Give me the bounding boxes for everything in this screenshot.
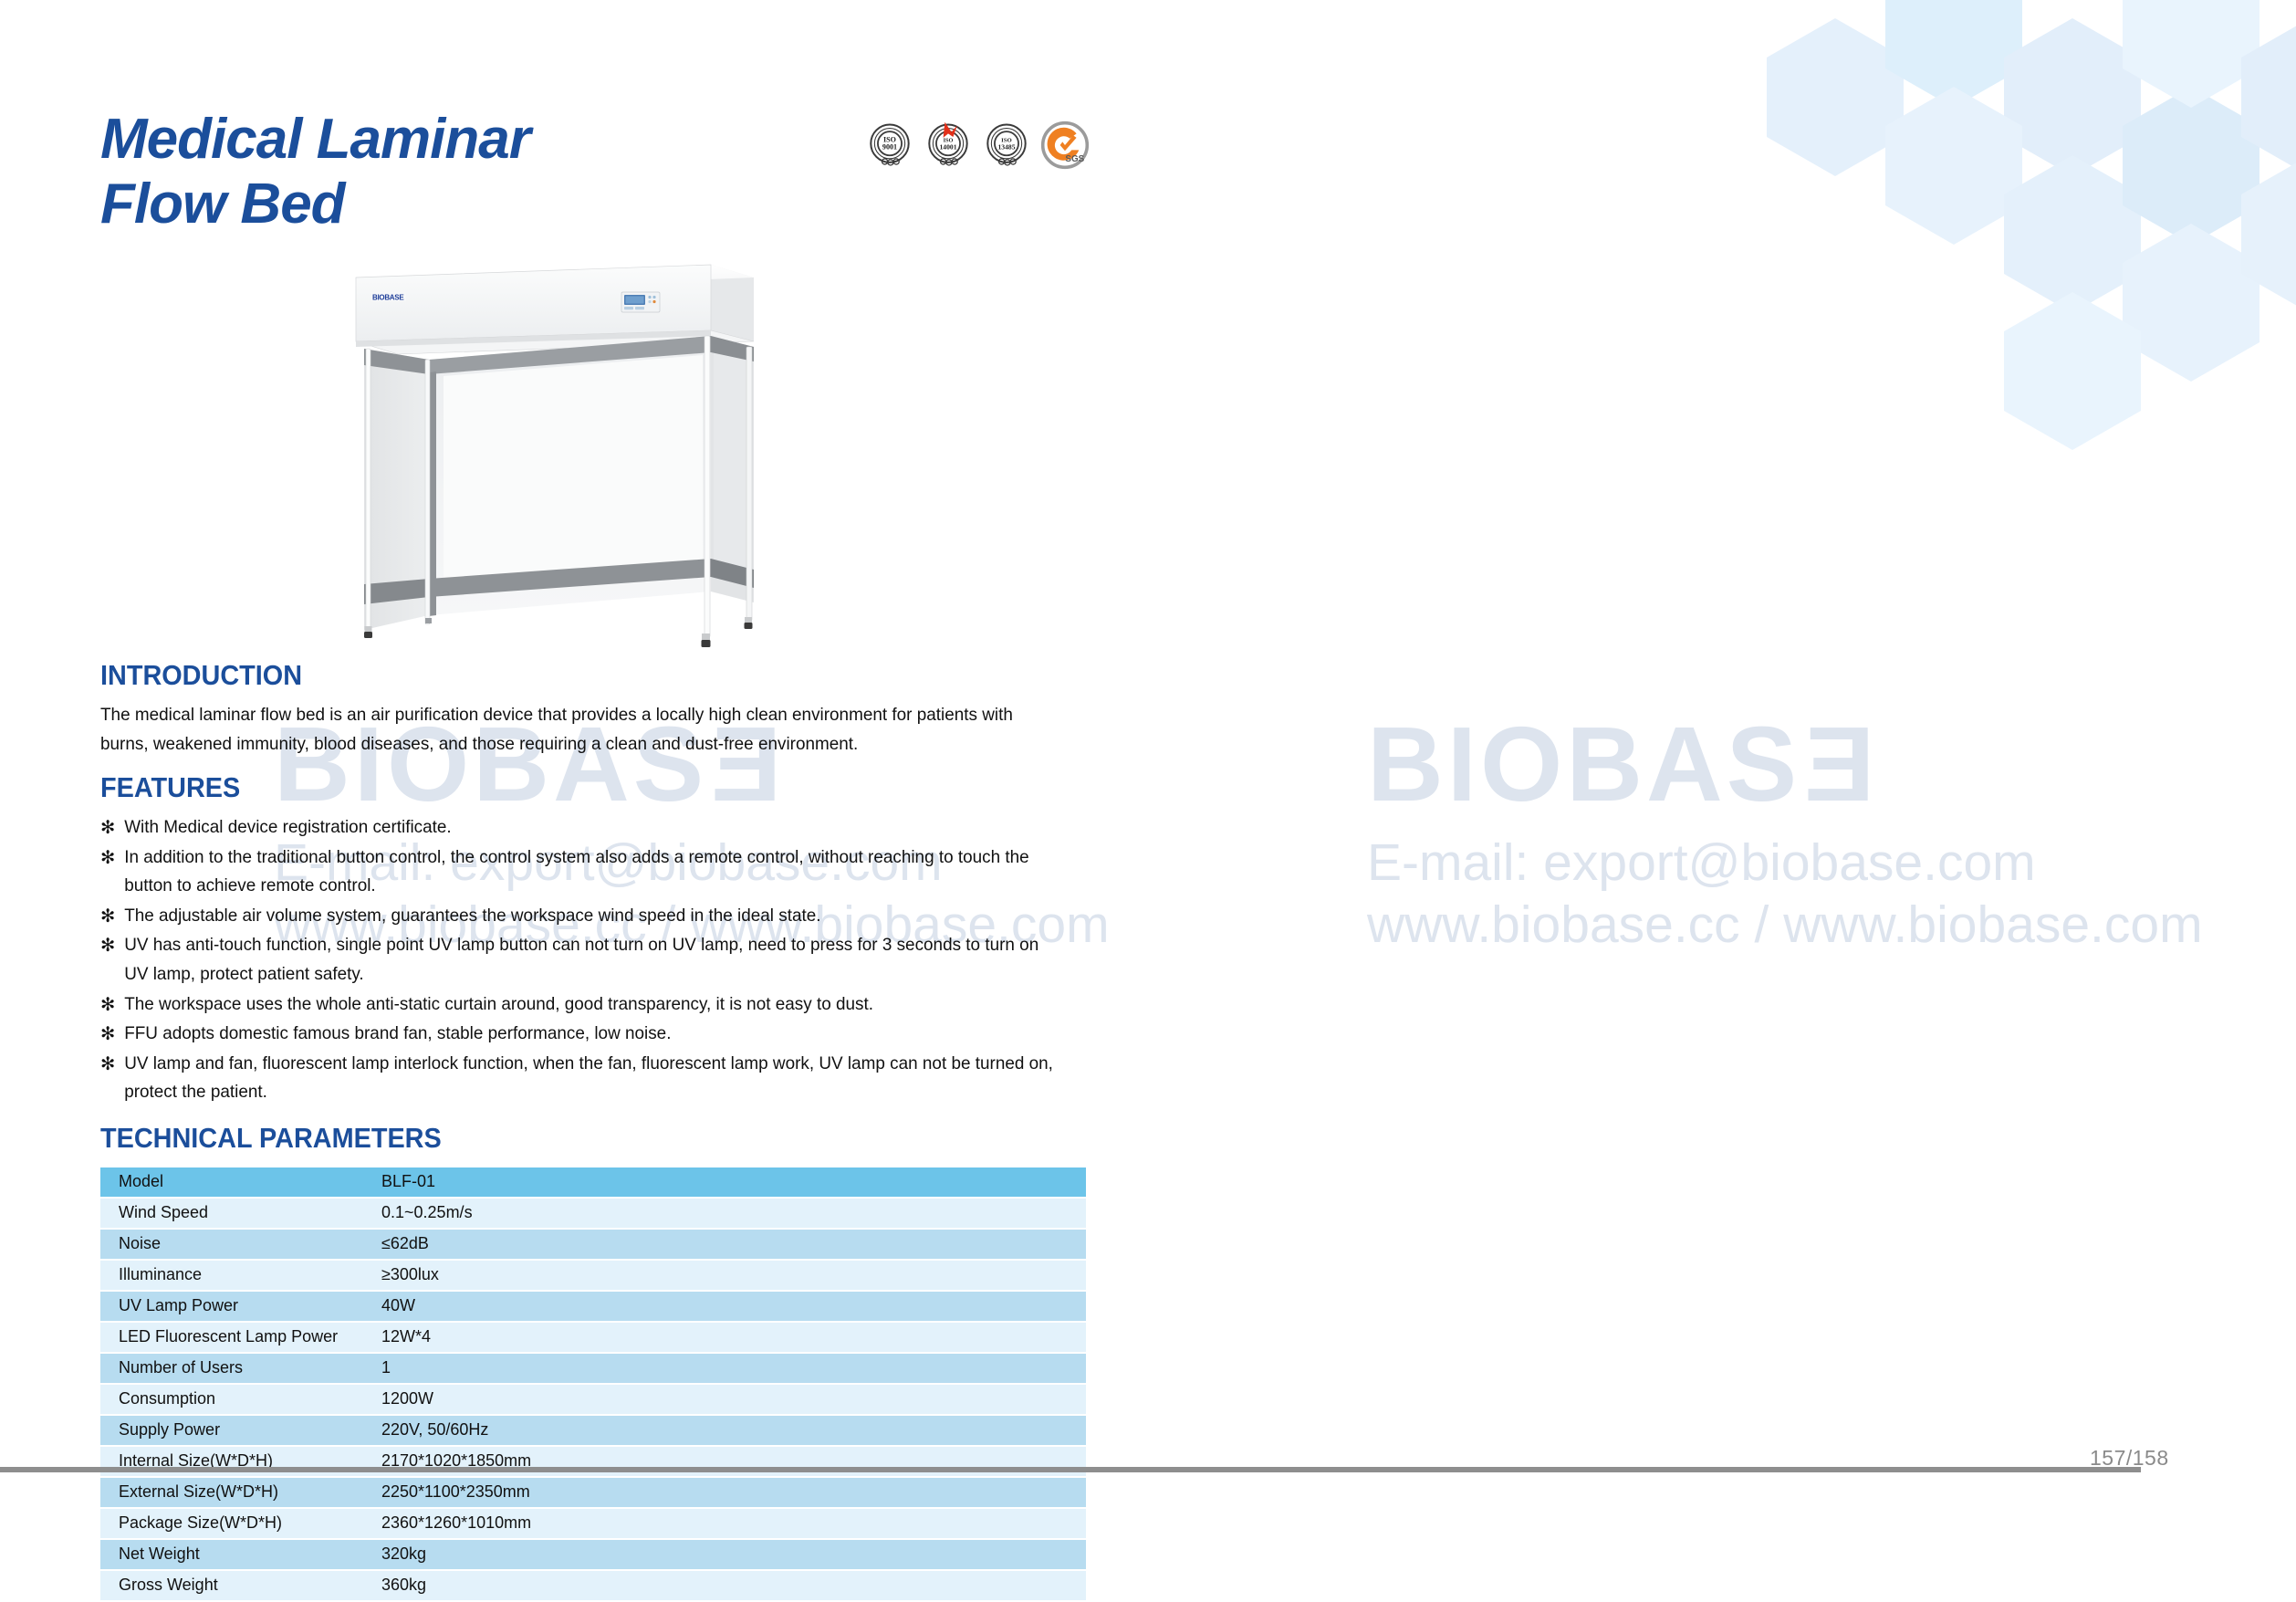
hexagon-decoration [1593,0,2296,475]
spec-label: Number of Users [100,1354,363,1383]
introduction-body: The medical laminar flow bed is an air p… [100,701,1057,759]
table-row: UV Lamp Power40W [100,1292,1086,1321]
certification-badges: ISO 9001 ISO 14001 ISO 13485 SGS [865,120,1090,170]
table-row: Supply Power220V, 50/60Hz [100,1416,1086,1445]
table-row: Number of Users1 [100,1354,1086,1383]
spec-label: LED Fluorescent Lamp Power [100,1323,363,1352]
asterisk-bullet-icon: ✻ [100,902,115,931]
asterisk-bullet-icon: ✻ [100,813,115,843]
watermark-email-right: E-mail: export@biobase.com [1367,832,2036,893]
table-row: LED Fluorescent Lamp Power12W*4 [100,1323,1086,1352]
feature-item: ✻UV has anti-touch function, single poin… [100,931,1057,989]
technical-parameters-table: ModelBLF-01Wind Speed0.1~0.25m/sNoise≤62… [100,1166,1086,1602]
page-title-line-2: Flow Bed [100,173,530,237]
spec-label: Net Weight [100,1540,363,1569]
spec-value: 0.1~0.25m/s [363,1199,1086,1228]
sgs-badge: SGS [1040,120,1090,170]
spec-value: ≤62dB [363,1230,1086,1259]
table-row: External Size(W*D*H)2250*1100*2350mm [100,1478,1086,1507]
product-image: BIOBASE [334,257,763,650]
spec-value: 360kg [363,1571,1086,1600]
iso-13485-badge: ISO 13485 [982,120,1031,170]
spec-value: 1 [363,1354,1086,1383]
spec-label: Illuminance [100,1261,363,1290]
feature-item: ✻In addition to the traditional button c… [100,843,1057,901]
product-brand-logo: BIOBASE [371,292,406,302]
footer-rule [0,1467,2141,1472]
table-row: ModelBLF-01 [100,1167,1086,1197]
table-row: Illuminance≥300lux [100,1261,1086,1290]
spec-value: 320kg [363,1540,1086,1569]
spec-label: Gross Weight [100,1571,363,1600]
introduction-heading: INTRODUCTION [100,659,1017,692]
spec-value: 2360*1260*1010mm [363,1509,1086,1538]
table-row: Consumption1200W [100,1385,1086,1414]
spec-value: 220V, 50/60Hz [363,1416,1086,1445]
table-row: Package Size(W*D*H)2360*1260*1010mm [100,1509,1086,1538]
iso-14001-badge: ISO 14001 [924,120,973,170]
watermark-brand-right: BIOBASE [1367,703,1875,825]
content-column: INTRODUCTION The medical laminar flow be… [100,659,1086,1602]
feature-item-label: The workspace uses the whole anti-static… [124,994,873,1014]
asterisk-bullet-icon: ✻ [100,931,115,960]
table-row: Wind Speed0.1~0.25m/s [100,1199,1086,1228]
svg-text:9001: 9001 [882,143,897,152]
asterisk-bullet-icon: ✻ [100,1050,115,1079]
spec-value: 1200W [363,1385,1086,1414]
spec-value: 12W*4 [363,1323,1086,1352]
iso-9001-badge: ISO 9001 [865,120,914,170]
product-castor-wheels [364,617,753,647]
watermark-brand-e: E [1800,703,1874,825]
product-control-panel [621,292,660,312]
page-number: 157/158 [2090,1446,2169,1471]
spec-value: 40W [363,1292,1086,1321]
page-title: Medical Laminar Flow Bed [100,108,530,236]
feature-item-label: With Medical device registration certifi… [124,817,451,837]
asterisk-bullet-icon: ✻ [100,990,115,1020]
svg-text:SGS: SGS [1065,154,1084,164]
watermark-web-right: www.biobase.cc / www.biobase.com [1367,895,2203,955]
spec-value: ≥300lux [363,1261,1086,1290]
watermark-brand-text: BIOBAS [1367,705,1800,823]
spec-label: External Size(W*D*H) [100,1478,363,1507]
feature-item-label: FFU adopts domestic famous brand fan, st… [124,1023,671,1043]
spec-label: UV Lamp Power [100,1292,363,1321]
features-list: ✻With Medical device registration certif… [100,813,1086,1107]
feature-item: ✻With Medical device registration certif… [100,813,1057,843]
spec-label: Package Size(W*D*H) [100,1509,363,1538]
spec-label: Supply Power [100,1416,363,1445]
table-row: Net Weight320kg [100,1540,1086,1569]
feature-item: ✻UV lamp and fan, fluorescent lamp inter… [100,1050,1057,1107]
feature-item-label: The adjustable air volume system, guaran… [124,906,820,926]
page-title-line-1: Medical Laminar [100,108,530,173]
table-row: Gross Weight360kg [100,1571,1086,1600]
feature-item: ✻The adjustable air volume system, guara… [100,902,1057,931]
spec-label: Noise [100,1230,363,1259]
spec-label: Model [100,1167,363,1197]
spec-label: Wind Speed [100,1199,363,1228]
feature-item: ✻The workspace uses the whole anti-stati… [100,990,1057,1020]
svg-text:13485: 13485 [997,143,1015,152]
feature-item-label: In addition to the traditional button co… [124,847,1029,896]
spec-label: Consumption [100,1385,363,1414]
technical-parameters-heading: TECHNICAL PARAMETERS [100,1122,1017,1155]
table-row: Noise≤62dB [100,1230,1086,1259]
feature-item-label: UV has anti-touch function, single point… [124,935,1038,984]
spec-value: BLF-01 [363,1167,1086,1197]
svg-text:BIOBASE: BIOBASE [372,294,404,302]
feature-item: ✻FFU adopts domestic famous brand fan, s… [100,1020,1057,1049]
feature-item-label: UV lamp and fan, fluorescent lamp interl… [124,1053,1053,1103]
spec-value: 2250*1100*2350mm [363,1478,1086,1507]
asterisk-bullet-icon: ✻ [100,1020,115,1049]
svg-text:14001: 14001 [939,143,956,152]
features-heading: FEATURES [100,771,1017,804]
asterisk-bullet-icon: ✻ [100,843,115,873]
